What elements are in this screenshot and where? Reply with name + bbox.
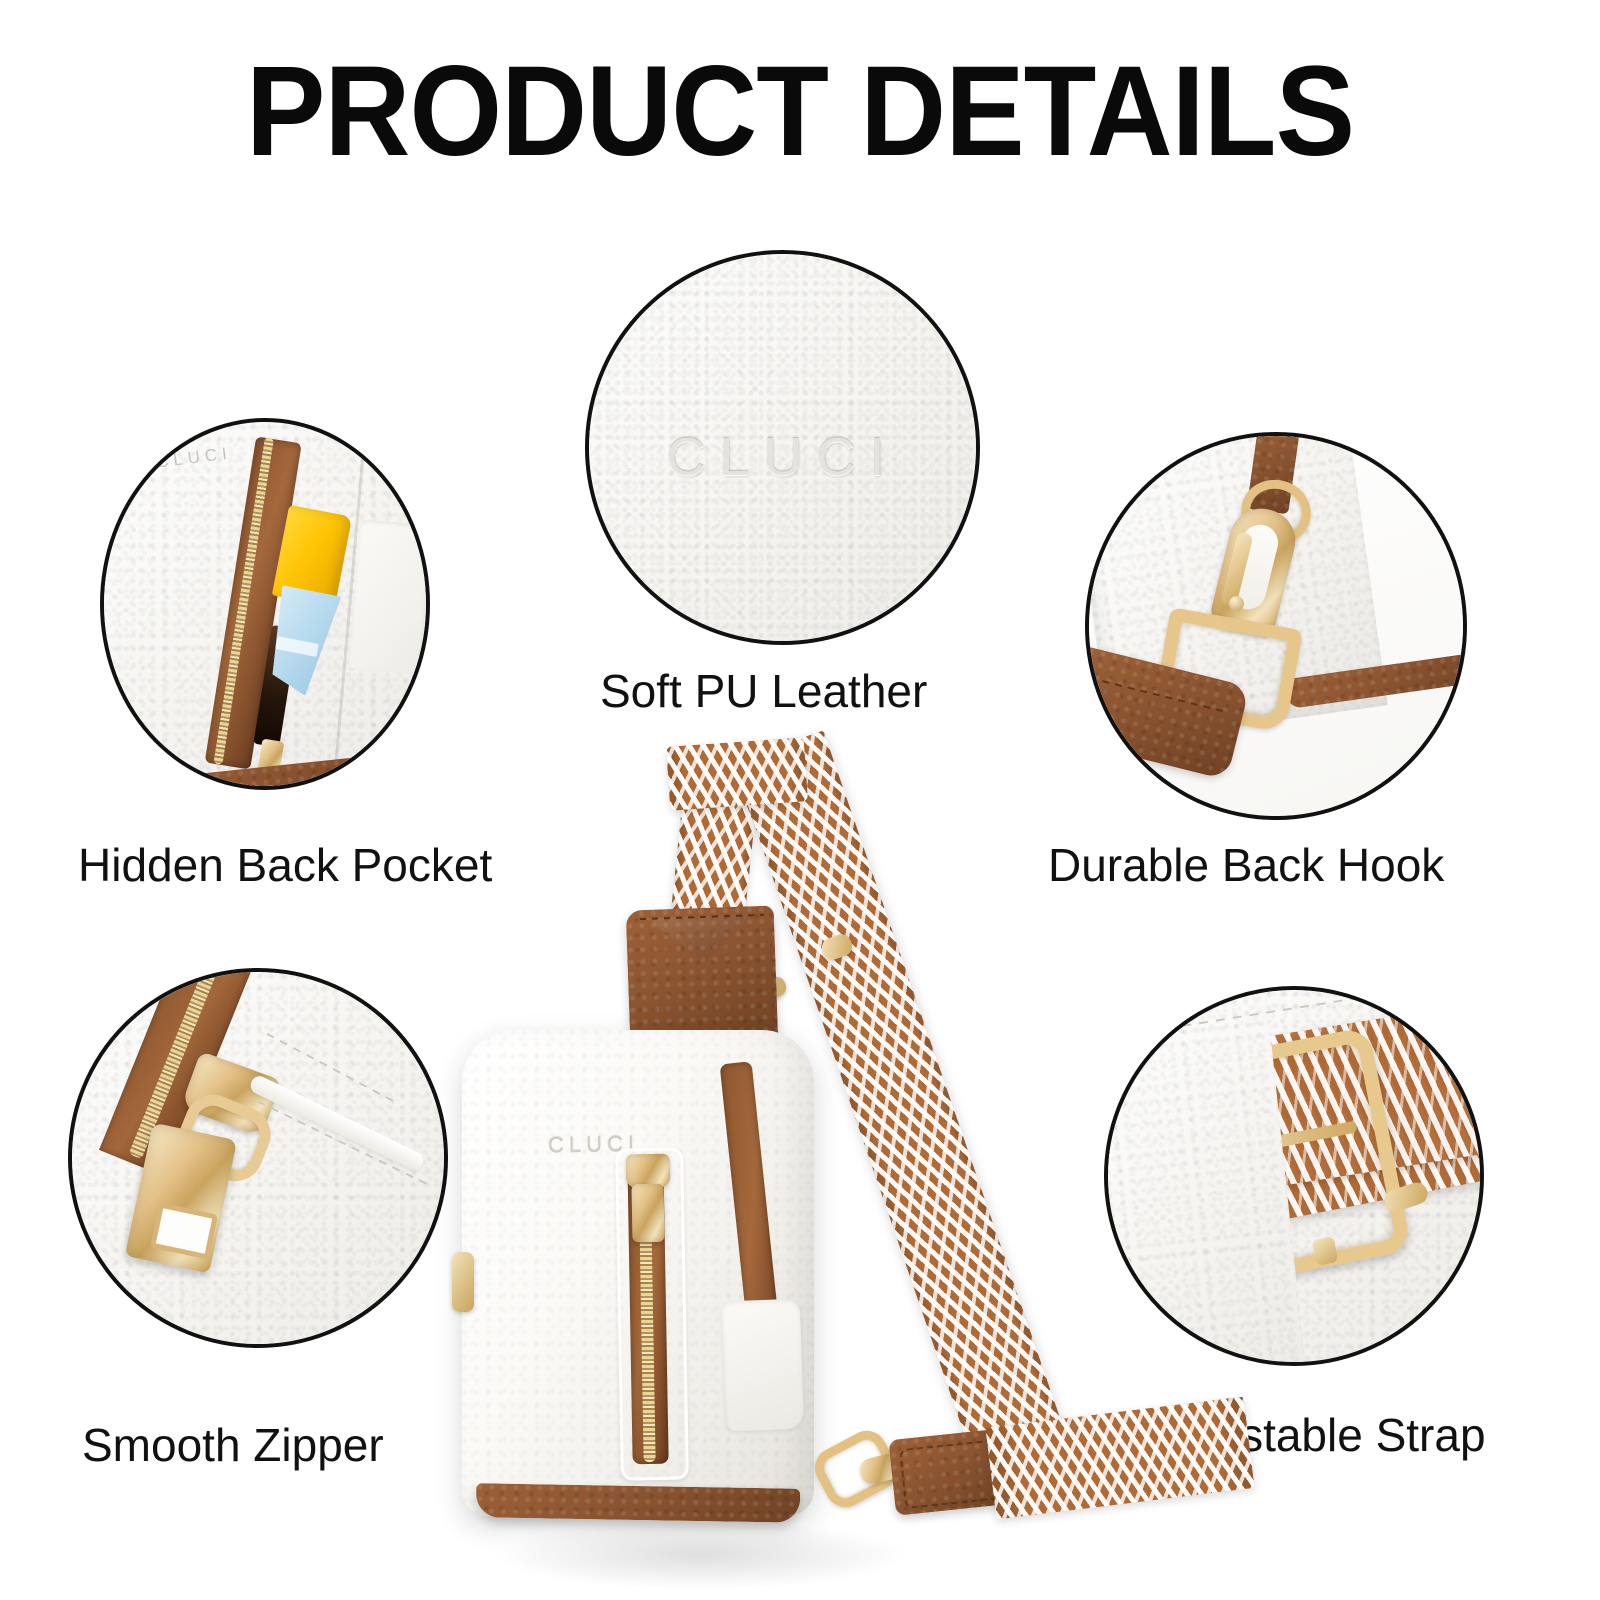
callout-label-soft-pu-leather: Soft PU Leather: [600, 664, 927, 718]
embossed-brand-logo: CLUCI: [589, 426, 976, 488]
strap-apex-fold: [666, 737, 808, 810]
product-shadow: [490, 1520, 910, 1590]
clasp-rivet-icon: [1229, 596, 1244, 611]
left-side-hardware-icon: [452, 1252, 474, 1312]
smooth-zipper-photo: [68, 968, 448, 1348]
soft-pu-leather-photo: CLUCI: [585, 250, 980, 645]
page-title: PRODUCT DETAILS: [56, 48, 1544, 176]
side-slip-pocket: [722, 1299, 804, 1432]
side-pocket: [348, 519, 426, 675]
infographic-canvas: PRODUCT DETAILS CLUCI: [0, 0, 1600, 1600]
bag-bottom-trim: [476, 1483, 801, 1523]
callout-label-smooth-zipper: Smooth Zipper: [82, 1418, 384, 1472]
hidden-back-pocket-photo: CLUCI: [100, 418, 430, 790]
buckle-prong-bottom: [1312, 1236, 1339, 1266]
front-zipper-pull-icon: [631, 1184, 664, 1243]
main-product-image: CLUCI: [430, 740, 1210, 1600]
